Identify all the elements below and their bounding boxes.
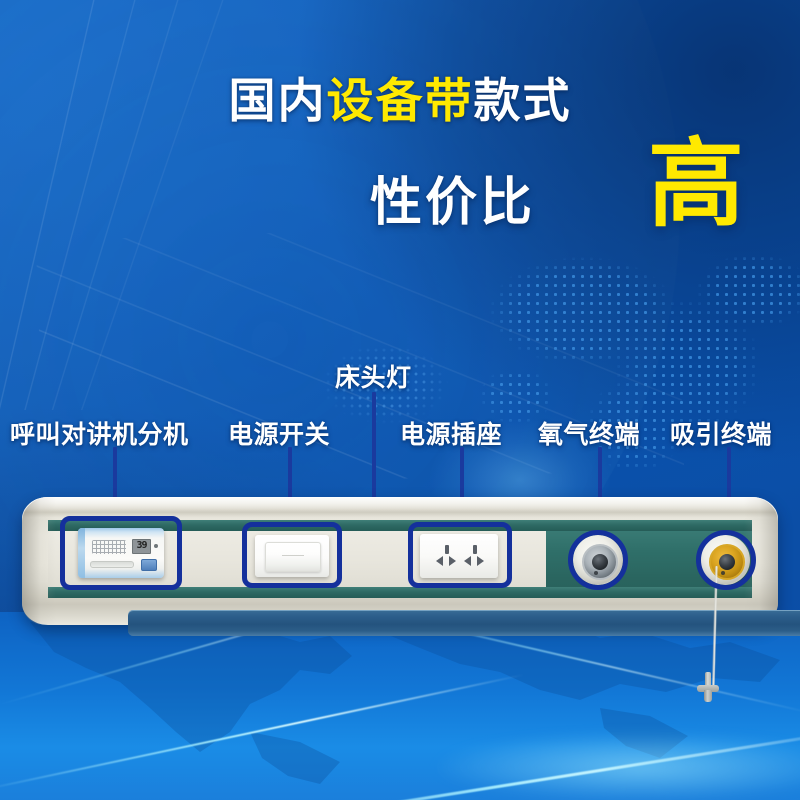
callout-label-bed-lamp: 床头灯 bbox=[335, 358, 412, 394]
highlight-ring-oxygen bbox=[568, 530, 628, 590]
highlight-ring-suction bbox=[696, 530, 756, 590]
callout-label-power-socket: 电源插座 bbox=[400, 415, 502, 451]
shell-highlight bbox=[22, 497, 778, 511]
ray-glow bbox=[430, 732, 800, 800]
highlight-box-intercom bbox=[60, 516, 182, 590]
product-banner: 国内设备带款式 性价比 高 呼叫对讲机分机 电源开关 床头灯 电源插座 氧气终端… bbox=[0, 0, 800, 800]
lower-background-band bbox=[0, 612, 800, 800]
rail-segment bbox=[128, 610, 800, 636]
highlight-box-power-switch bbox=[242, 522, 342, 588]
highlight-box-power-socket bbox=[408, 522, 512, 588]
callout-label-oxygen: 氧气终端 bbox=[538, 415, 640, 451]
callout-label-suction: 吸引终端 bbox=[670, 415, 772, 451]
hose-metal-fitting bbox=[697, 672, 719, 702]
lower-rail bbox=[128, 610, 800, 636]
callout-label-power-switch: 电源开关 bbox=[228, 415, 330, 451]
fitting-tip bbox=[704, 690, 712, 702]
callout-label-intercom: 呼叫对讲机分机 bbox=[10, 415, 189, 451]
